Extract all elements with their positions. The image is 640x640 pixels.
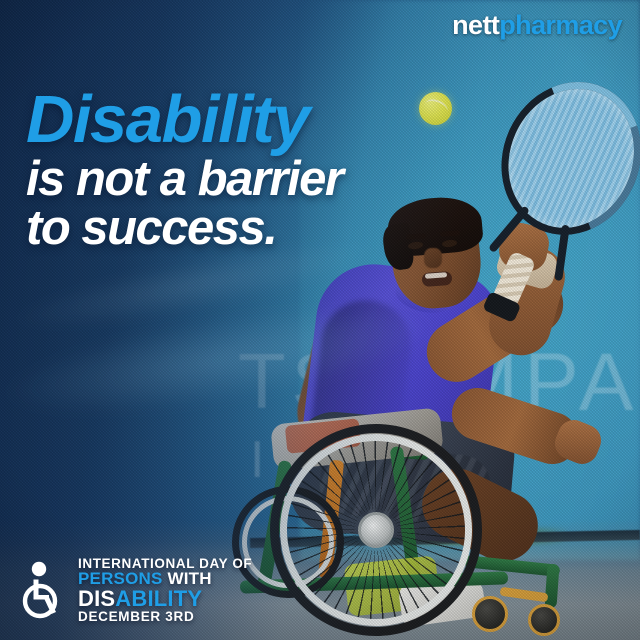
badge-line-4: DECEMBER 3RD — [78, 610, 252, 624]
headline-line-1: Disability — [26, 88, 342, 152]
poster-canvas: TS OMPAN IT EA — [0, 0, 640, 640]
badge-text-block: INTERNATIONAL DAY OF PERSONS WITH DISABI… — [78, 557, 252, 624]
headline-line-3: to success. — [26, 205, 342, 252]
observance-badge: INTERNATIONAL DAY OF PERSONS WITH DISABI… — [16, 557, 252, 624]
badge-line-3: DISABILITY — [78, 588, 252, 610]
badge-ability: ABILITY — [115, 586, 202, 611]
brand-logo[interactable]: nettpharmacy — [452, 12, 622, 39]
badge-dis: DIS — [78, 586, 115, 611]
wheelchair-accessibility-icon — [16, 560, 68, 620]
headline: Disability is not a barrier to success. — [26, 88, 342, 252]
headline-line-2: is not a barrier — [26, 156, 342, 203]
logo-word-nett: nett — [452, 10, 499, 40]
logo-word-pharmacy: pharmacy — [499, 10, 622, 40]
